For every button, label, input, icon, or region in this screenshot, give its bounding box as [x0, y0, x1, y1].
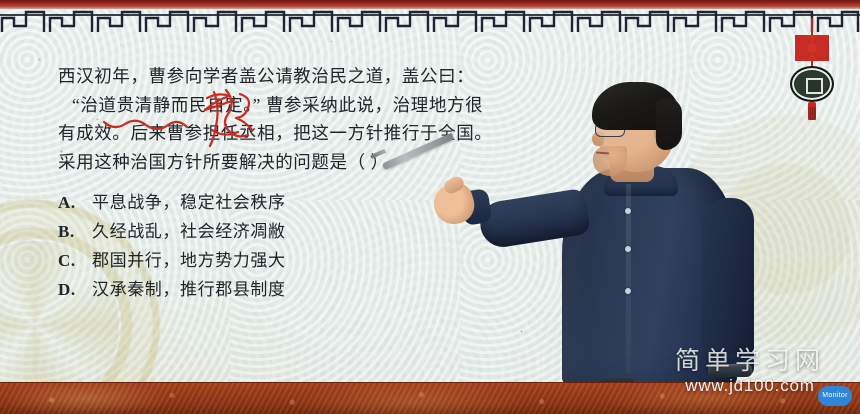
wristwatch [708, 364, 752, 377]
shirt-placket [626, 184, 631, 374]
teacher-figure [492, 86, 792, 384]
bottom-carpet-strip [0, 382, 860, 414]
tassel-icon [808, 102, 816, 120]
option-c[interactable]: C. 郡国并行，地方势力强大 [58, 246, 488, 275]
carpet-motif-texture [0, 383, 860, 414]
shirt-button [625, 288, 631, 294]
option-d-label: D. [58, 275, 92, 304]
option-b[interactable]: B. 久经战乱，社会经济凋敝 [58, 217, 488, 246]
option-b-text: 久经战乱，社会经济凋敝 [92, 217, 286, 246]
option-a[interactable]: A. 平息战争，稳定社会秩序 [58, 188, 488, 217]
coin-pendant-icon [790, 66, 834, 102]
answer-options-list: A. 平息战争，稳定社会秩序 B. 久经战乱，社会经济凋敝 C. 郡国并行，地方… [58, 188, 488, 304]
video-frame: 西汉初年，曹参向学者盖公请教治民之道，盖公曰： “治道贵清静而民自定。” 曹参采… [0, 0, 860, 414]
option-a-text: 平息战争，稳定社会秩序 [92, 188, 286, 217]
option-a-label: A. [58, 188, 92, 217]
option-d[interactable]: D. 汉承秦制，推行郡县制度 [58, 275, 488, 304]
chinese-knot-ornament [786, 18, 838, 118]
teacher-right-arm [702, 198, 754, 368]
option-b-label: B. [58, 217, 92, 246]
option-d-text: 汉承秦制，推行郡县制度 [92, 275, 286, 304]
option-c-text: 郡国并行，地方势力强大 [92, 246, 286, 275]
teacher-hair [592, 82, 680, 130]
chinese-knot-icon [795, 35, 829, 61]
greek-key-meander-border [0, 6, 860, 36]
option-c-label: C. [58, 246, 92, 275]
teacher-chin [593, 146, 627, 176]
shirt-button [625, 246, 631, 252]
shirt-button [625, 208, 631, 214]
